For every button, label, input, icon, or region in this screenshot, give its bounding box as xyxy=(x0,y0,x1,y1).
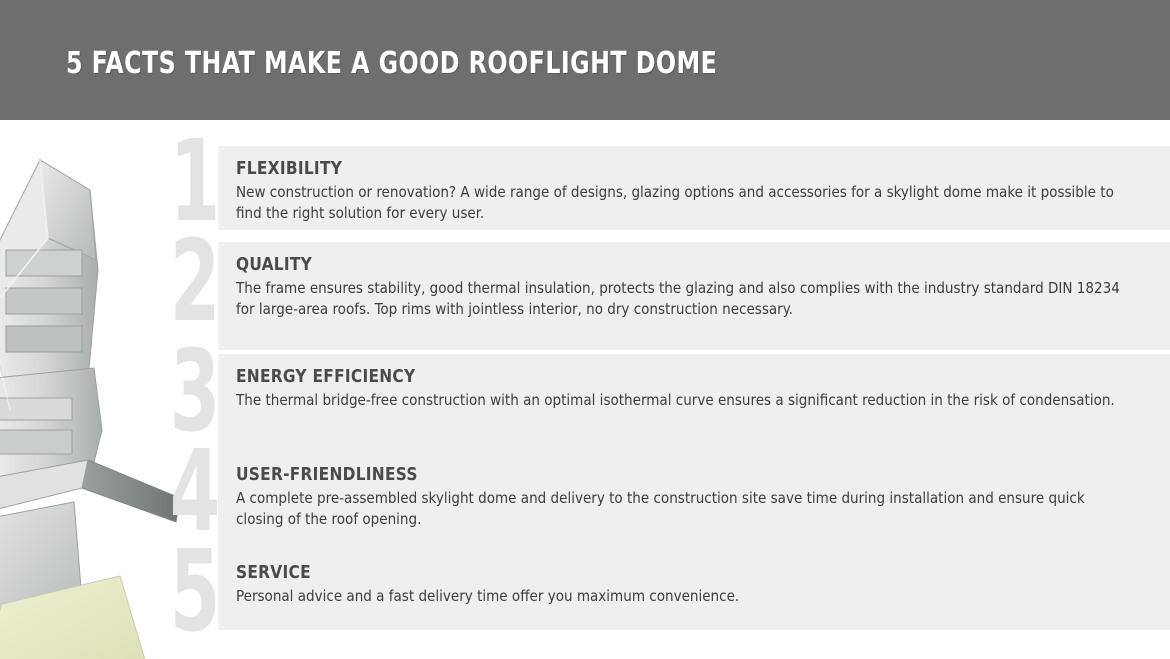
page-title: 5 Facts that make a good rooflight dome xyxy=(66,46,717,81)
rooflight-dome-illustration xyxy=(0,120,180,659)
fact-text: A complete pre-assembled skylight dome a… xyxy=(236,488,1125,531)
ghost-number-2: 2 xyxy=(170,226,220,338)
fact-item-quality: Quality The frame ensures stability, goo… xyxy=(218,242,1170,350)
fact-text: The thermal bridge-free construction wit… xyxy=(236,390,1125,411)
fact-title: Energy efficiency xyxy=(236,366,1106,387)
fact-text: New construction or renovation? A wide r… xyxy=(236,182,1125,225)
fact-title: Flexibility xyxy=(236,158,1106,179)
fact-title: Quality xyxy=(236,254,1106,275)
fact-text: Personal advice and a fast delivery time… xyxy=(236,586,1125,607)
fact-item-user-friendliness: User-friendliness A complete pre-assembl… xyxy=(218,452,1170,562)
ghost-number-5: 5 xyxy=(170,536,220,648)
fact-item-energy-efficiency: Energy efficiency The thermal bridge-fre… xyxy=(218,354,1170,462)
fact-text: The frame ensures stability, good therma… xyxy=(236,278,1125,321)
fact-title: User-friendliness xyxy=(236,464,1106,485)
fact-item-flexibility: Flexibility New construction or renovati… xyxy=(218,146,1170,230)
fact-item-service: Service Personal advice and a fast deliv… xyxy=(218,550,1170,630)
header-bar: 5 Facts that make a good rooflight dome xyxy=(0,0,1170,120)
rooflight-dome-cross-section-icon xyxy=(0,130,180,659)
facts-list: Flexibility New construction or renovati… xyxy=(218,120,1170,659)
content-area: 1 2 3 4 5 Flexibility New construction o… xyxy=(0,120,1170,659)
fact-title: Service xyxy=(236,562,1106,583)
